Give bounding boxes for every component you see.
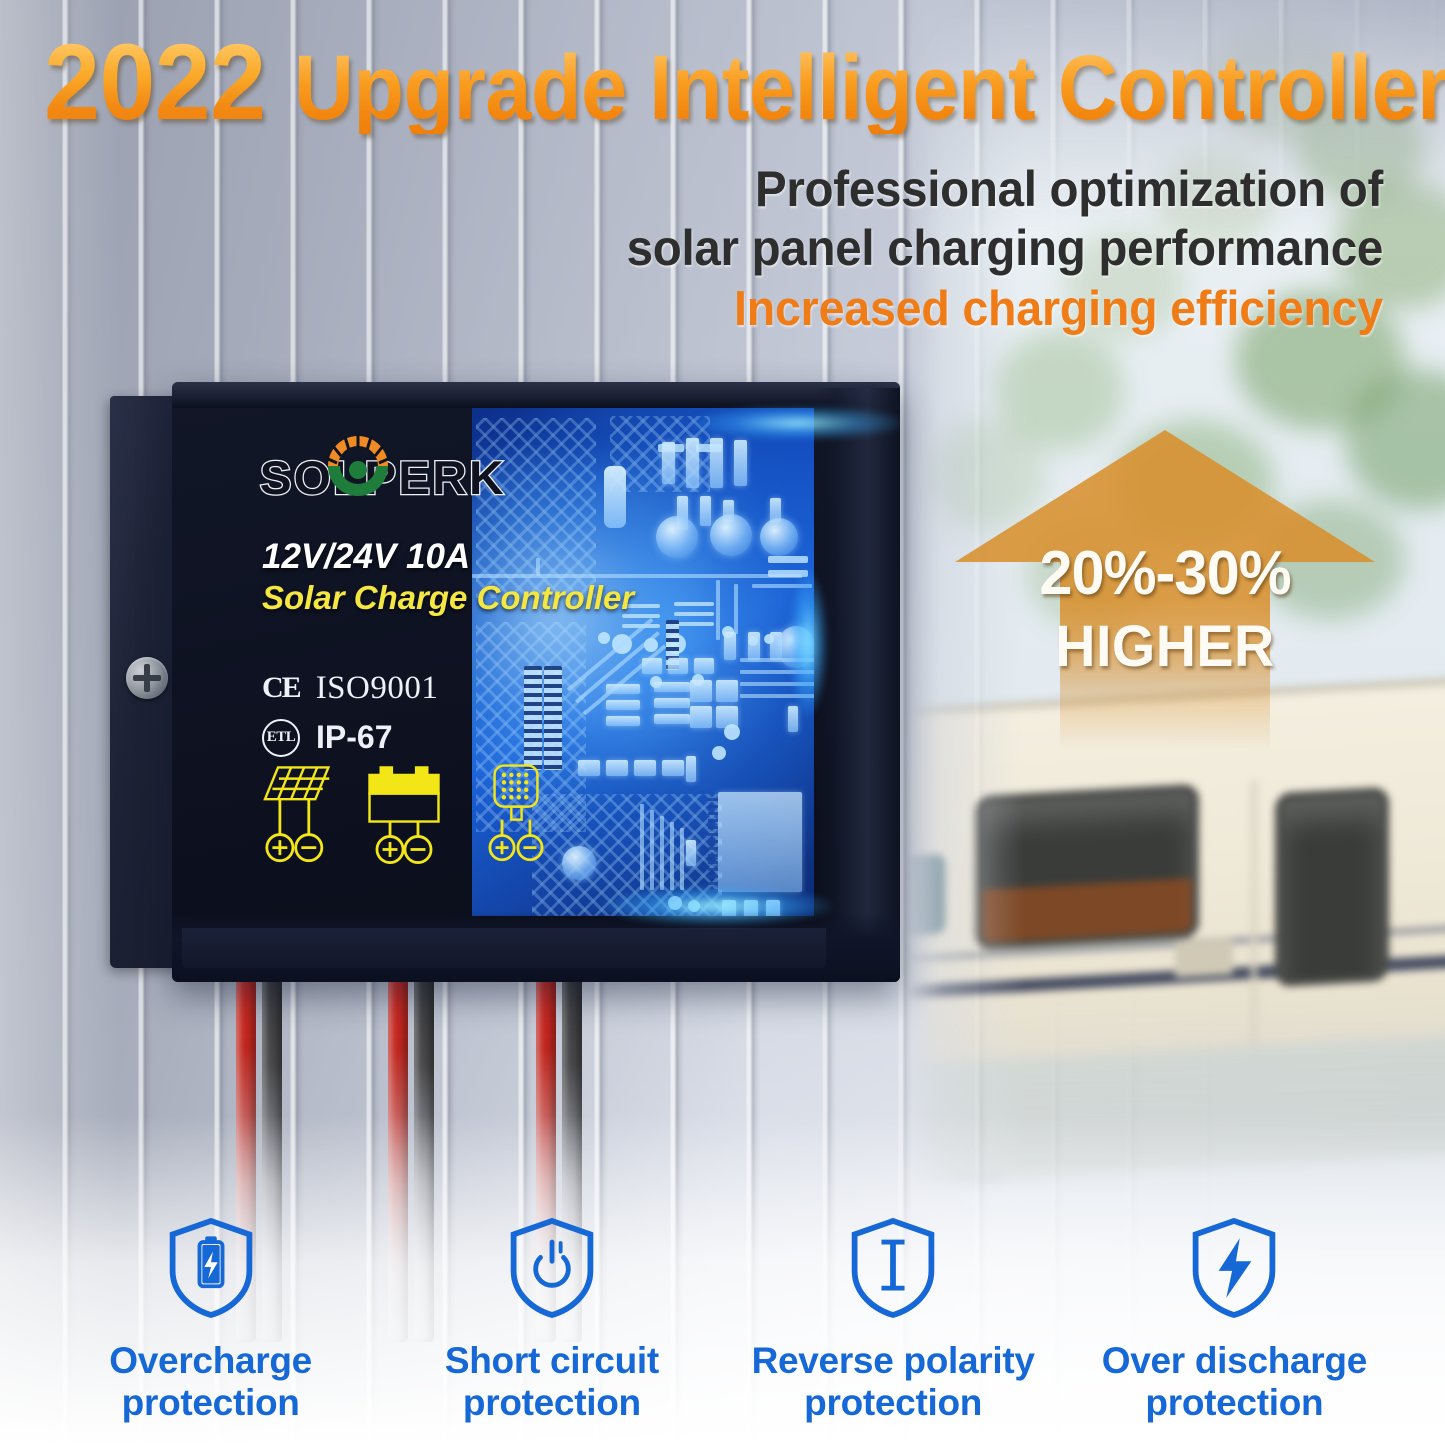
solperk-sun-mark-icon (320, 432, 396, 508)
device-bottom-lip (182, 928, 826, 968)
callout-word: HIGHER (963, 613, 1366, 680)
feature-row: Overcharge protection Short circuit prot… (0, 1214, 1445, 1423)
feature-overcharge: Overcharge protection (61, 1214, 361, 1423)
subtitle-line-1: Professional optimization of (509, 160, 1383, 219)
brand-logo: SOLPERK (262, 438, 562, 508)
led-glow-top (692, 406, 900, 440)
shield-current-i-icon (743, 1214, 1043, 1322)
subtitle-block: Professional optimization of solar panel… (463, 160, 1383, 342)
headline-text: Upgrade Intelligent Controller (294, 42, 1445, 134)
terminal-icon-row (250, 760, 560, 870)
terminal-load-lamp (474, 760, 552, 870)
shield-power-button-icon (402, 1214, 702, 1322)
product-marketing-image: 2022Upgrade Intelligent Controller Profe… (0, 0, 1445, 1445)
led-glow-right (788, 568, 828, 718)
terminal-battery (362, 760, 440, 870)
led-glow-bottom (602, 886, 832, 926)
solar-charge-controller-device: SOLPERK (110, 382, 900, 982)
etl-mark-icon: ETL (262, 719, 300, 757)
feature-label-line-2: protection (61, 1382, 361, 1423)
feature-label-line-1: Short circuit (402, 1340, 702, 1381)
subtitle-accent-line: Increased charging efficiency (509, 278, 1383, 342)
device-housing: SOLPERK (172, 382, 900, 982)
feature-label-line-2: protection (1084, 1382, 1384, 1423)
headline-year: 2022 (44, 28, 266, 136)
headline: 2022Upgrade Intelligent Controller (44, 28, 1414, 136)
device-label: SOLPERK (262, 438, 562, 769)
feature-reverse-polarity: Reverse polarity protection (743, 1214, 1043, 1423)
callout-percent: 20%-30% (963, 538, 1366, 609)
terminal-solar-panel (250, 760, 328, 870)
shield-battery-bolt-icon (61, 1214, 361, 1322)
feature-label-line-2: protection (402, 1382, 702, 1423)
spec-voltage: 12V/24V 10A (262, 538, 562, 577)
feature-label-line-1: Overcharge (61, 1340, 361, 1381)
certification-marks: CE ISO9001 ETL IP-67 (262, 670, 562, 757)
iso-certification: ISO9001 (316, 670, 439, 707)
feature-label-line-2: protection (743, 1382, 1043, 1423)
ce-mark-icon: CE (262, 671, 300, 705)
subtitle-line-2: solar panel charging performance (509, 219, 1383, 278)
mounting-screw-icon (126, 657, 168, 699)
feature-short-circuit: Short circuit protection (402, 1214, 702, 1423)
efficiency-callout: 20%-30% HIGHER (955, 430, 1375, 760)
spec-type: Solar Charge Controller (262, 577, 562, 618)
feature-label-line-1: Reverse polarity (743, 1340, 1043, 1381)
device-top-bevel (172, 382, 900, 408)
shield-lightning-bolt-icon (1084, 1214, 1384, 1322)
feature-label-line-1: Over discharge (1084, 1340, 1384, 1381)
feature-over-discharge: Over discharge protection (1084, 1214, 1384, 1423)
ip-rating: IP-67 (316, 719, 392, 756)
